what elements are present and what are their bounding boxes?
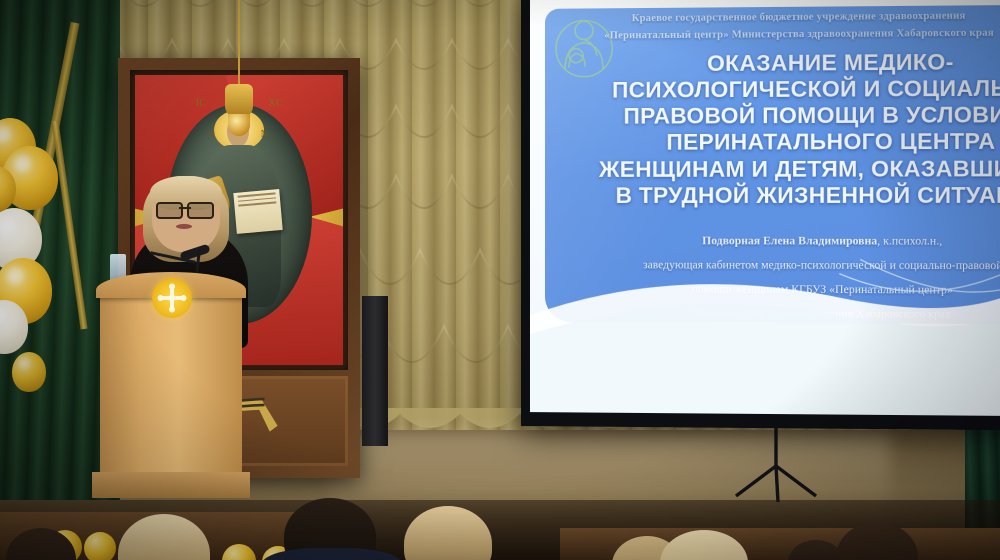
wooden-lectern xyxy=(100,294,242,480)
ornamental-cross-icon xyxy=(152,278,192,318)
svg-text:O: O xyxy=(208,129,215,139)
pa-speaker-column xyxy=(362,296,388,446)
slide-author-degree: , к.психол.н., xyxy=(877,235,942,247)
slide-title-line-6: В ТРУДНОЙ ЖИЗНЕННОЙ СИТУАЦИИ xyxy=(592,182,1000,209)
presenter-glasses xyxy=(156,202,214,215)
audience-balloon-2 xyxy=(84,532,116,560)
lamp-chain xyxy=(238,0,240,86)
presentation-slide: Краевое государственное бюджетное учрежд… xyxy=(530,0,1000,416)
hanging-oil-lamp xyxy=(225,84,253,118)
slide-title-line-5: ЖЕНЩИНАМ И ДЕТЯМ, ОКАЗАВШИМСЯ xyxy=(592,156,1000,183)
svg-text:N: N xyxy=(261,129,268,139)
slide-header-line-2: «Перинатальный центр» Министерства здрав… xyxy=(591,25,1000,44)
slide-title-line-1: ОКАЗАНИЕ МЕДИКО- xyxy=(592,48,1000,77)
slide-author-name: Подворная Елена Владимировна xyxy=(702,235,877,247)
slide-title-line-3: ПРАВОВОЙ ПОМОЩИ В УСЛОВИЯХ xyxy=(592,102,1000,130)
lectern-base xyxy=(92,472,250,498)
lectern-gold-emblem xyxy=(152,278,192,318)
slide-header: Краевое государственное бюджетное учрежд… xyxy=(591,9,1000,45)
lamp-cup xyxy=(228,114,250,136)
slide-title: ОКАЗАНИЕ МЕДИКО- ПСИХОЛОГИЧЕСКОЙ И СОЦИА… xyxy=(530,48,1000,209)
slide-title-line-2: ПСИХОЛОГИЧЕСКОЙ И СОЦИАЛЬНО- xyxy=(592,75,1000,104)
projection-screen: Краевое государственное бюджетное учрежд… xyxy=(521,0,1000,430)
svg-text:IC: IC xyxy=(196,97,207,109)
photograph-scene: IC XC O W N xyxy=(0,0,1000,560)
presenter-mouth xyxy=(176,224,192,229)
screen-surface: Краевое государственное бюджетное учрежд… xyxy=(530,0,1000,416)
svg-text:XC: XC xyxy=(268,97,283,109)
slide-wave-decoration xyxy=(530,247,1000,416)
balloon-gold-5 xyxy=(12,352,46,392)
slide-title-line-4: ПЕРИНАТАЛЬНОГО ЦЕНТРА xyxy=(592,129,1000,157)
